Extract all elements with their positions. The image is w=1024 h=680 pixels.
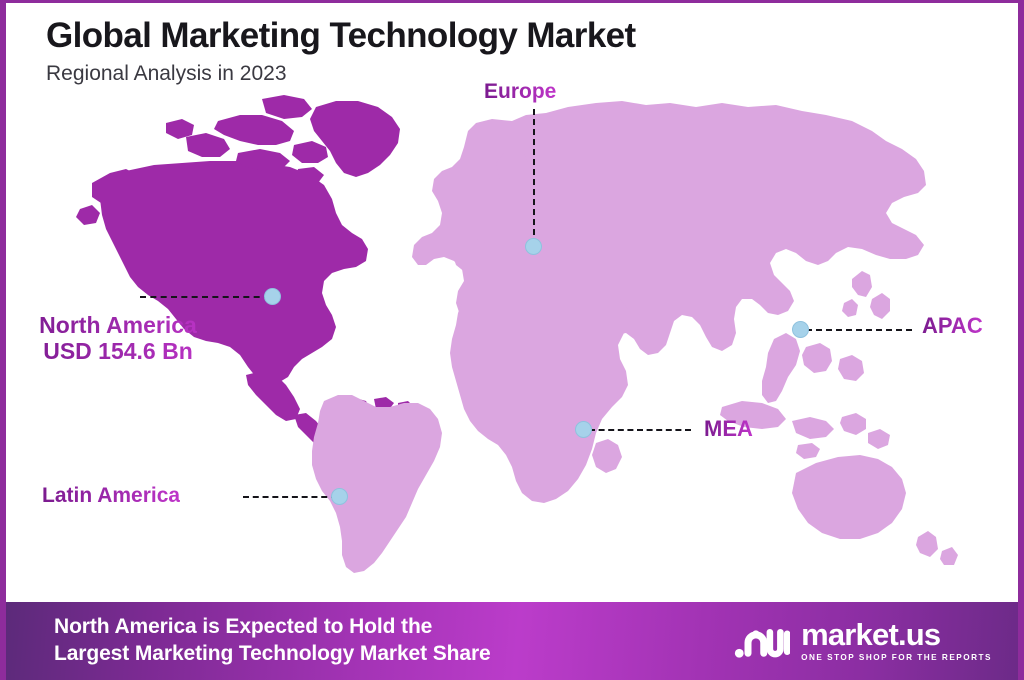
logo-text-block: market.us ONE STOP SHOP FOR THE REPORTS: [801, 619, 992, 662]
callout-apac: APAC: [922, 314, 983, 339]
brand-logo[interactable]: market.us ONE STOP SHOP FOR THE REPORTS: [734, 619, 1004, 662]
callout-apac-label: APAC: [922, 314, 983, 339]
callout-north-america-label: North America: [18, 313, 218, 339]
page-subtitle: Regional Analysis in 2023: [46, 62, 636, 85]
footer-statement-line2: Largest Marketing Technology Market Shar…: [54, 641, 491, 668]
map-marker-latin-america[interactable]: [331, 488, 348, 505]
callout-north-america: North America USD 154.6 Bn: [18, 313, 218, 365]
map-marker-europe[interactable]: [525, 238, 542, 255]
leader-line-mea: [589, 429, 691, 431]
map-region-africa: [450, 285, 630, 503]
map-region-japan: [842, 271, 890, 319]
logo-tagline: ONE STOP SHOP FOR THE REPORTS: [801, 654, 992, 662]
leader-line-apac: [806, 329, 912, 331]
callout-north-america-value: USD 154.6 Bn: [18, 339, 218, 365]
map-region-greenland: [310, 101, 400, 177]
callout-mea-label: MEA: [704, 417, 753, 442]
market-us-logo-icon: [734, 620, 790, 662]
callout-latin-america: Latin America: [42, 484, 180, 508]
map-marker-mea[interactable]: [575, 421, 592, 438]
leader-line-europe: [533, 109, 535, 245]
header: Global Marketing Technology Market Regio…: [46, 17, 636, 85]
map-marker-apac[interactable]: [792, 321, 809, 338]
page-title: Global Marketing Technology Market: [46, 17, 636, 56]
map-region-australia: [792, 455, 958, 565]
footer-statement: North America is Expected to Hold the La…: [54, 614, 491, 668]
footer-banner: North America is Expected to Hold the La…: [6, 602, 1024, 680]
leader-line-latin-america: [243, 496, 337, 498]
callout-mea: MEA: [704, 417, 753, 442]
footer-statement-line1: North America is Expected to Hold the: [54, 614, 491, 641]
logo-wordmark: market.us: [801, 619, 940, 650]
leader-line-north-america: [140, 296, 270, 298]
callout-latin-america-label: Latin America: [42, 484, 180, 508]
map-marker-north-america[interactable]: [264, 288, 281, 305]
infographic-root: Global Marketing Technology Market Regio…: [0, 0, 1024, 680]
map-region-south-america: [312, 395, 442, 573]
